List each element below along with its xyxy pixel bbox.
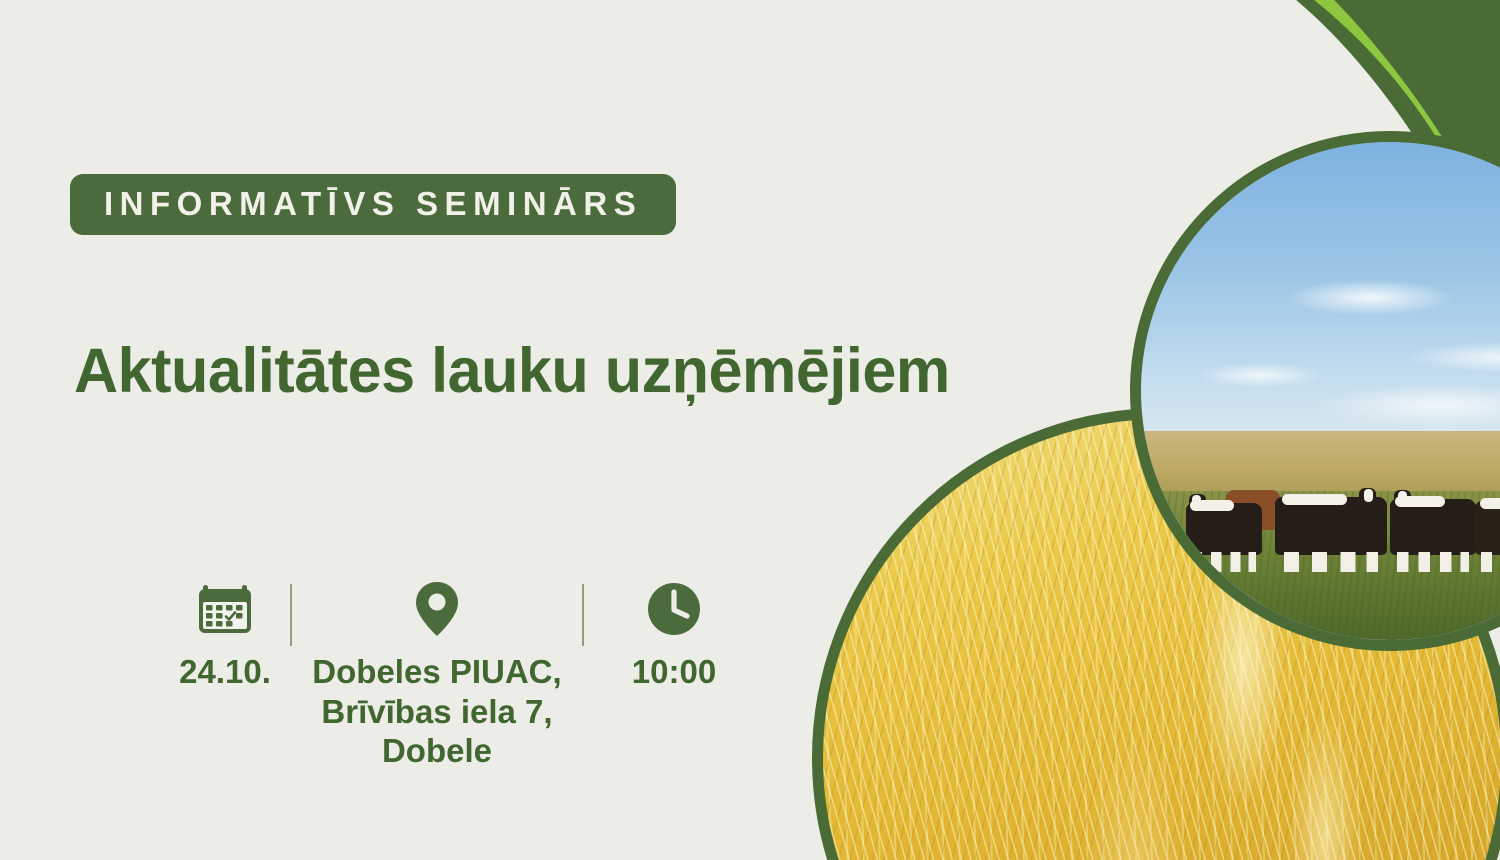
event-date-value: 24.10. (179, 652, 271, 692)
cow-face-patch (1364, 489, 1373, 502)
event-time-value: 10:00 (632, 652, 716, 692)
cow-shape (1390, 499, 1476, 555)
cow-face-patch (1192, 495, 1201, 508)
sky-region (1141, 142, 1500, 441)
poster-canvas: INFORMATĪVS SEMINĀRS Aktualitātes lauku … (0, 0, 1500, 860)
seminar-type-badge: INFORMATĪVS SEMINĀRS (70, 174, 676, 235)
cow-shape (1475, 501, 1500, 555)
event-time-item: 10:00 (584, 578, 764, 692)
cow-shape (1186, 503, 1262, 555)
cows-photo (1141, 142, 1500, 640)
location-pin-icon (409, 578, 465, 640)
event-details-strip: 24.10. Dobeles PIUAC, Brīvības iela 7, D… (160, 578, 810, 771)
cow-shape (1275, 497, 1387, 555)
cow-face-patch (1398, 491, 1407, 504)
poster-title: Aktualitātes lauku uzņēmējiem (74, 337, 950, 406)
cows-photo-circle (1130, 131, 1500, 651)
clock-icon (645, 578, 703, 640)
cow-back-patch (1282, 494, 1347, 505)
event-location-item: Dobeles PIUAC, Brīvības iela 7, Dobele (292, 578, 582, 771)
event-date-item: 24.10. (160, 578, 290, 692)
calendar-icon (195, 578, 255, 640)
event-location-value: Dobeles PIUAC, Brīvības iela 7, Dobele (312, 652, 561, 771)
cow-back-patch (1480, 498, 1500, 509)
